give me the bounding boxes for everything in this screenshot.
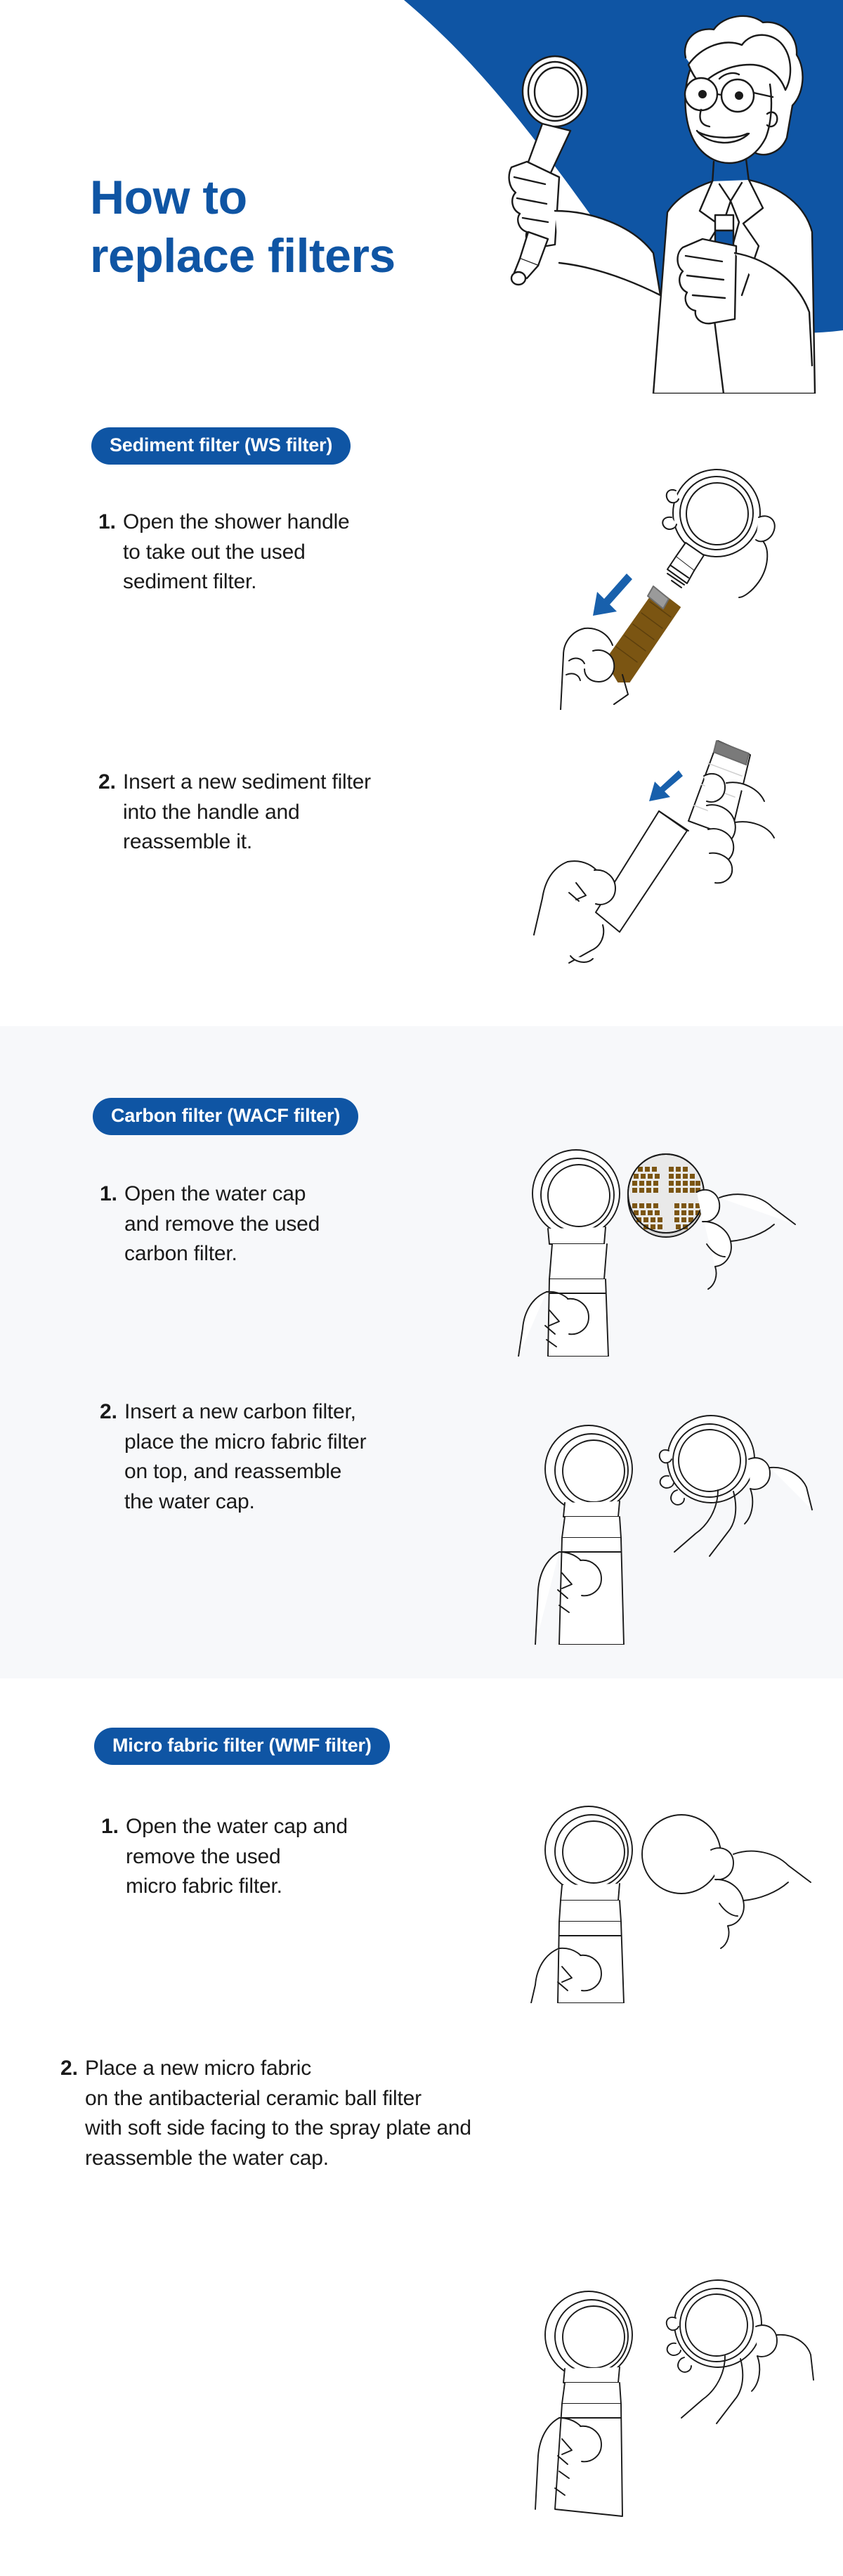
illustration-remove-sediment-filter <box>520 450 801 710</box>
illustration-reassemble-water-cap-micro-fabric <box>534 2277 815 2558</box>
step-number: 2. <box>100 1397 117 1428</box>
step-number: 2. <box>98 768 116 798</box>
badge-micro-fabric-filter: Micro fabric filter (WMF filter) <box>94 1728 390 1765</box>
step-text: Open the shower handle to take out the u… <box>123 507 350 597</box>
step-micro-fabric-2: 2. Place a new micro fabric on the antib… <box>60 2054 763 2173</box>
badge-sediment-filter: Sediment filter (WS filter) <box>91 427 351 465</box>
step-number: 1. <box>98 507 116 538</box>
step-sediment-1: 1. Open the shower handle to take out th… <box>98 507 450 597</box>
step-carbon-2: 2. Insert a new carbon filter, place the… <box>100 1397 465 1517</box>
step-text: Insert a new carbon filter, place the mi… <box>124 1397 366 1517</box>
step-sediment-2: 2. Insert a new sediment filter into the… <box>98 768 464 857</box>
step-text: Open the water cap and remove the used c… <box>124 1179 320 1269</box>
step-number: 2. <box>60 2054 78 2084</box>
step-number: 1. <box>100 1179 117 1210</box>
illustration-reassemble-water-cap-carbon <box>534 1392 815 1645</box>
badge-carbon-filter: Carbon filter (WACF filter) <box>93 1098 358 1135</box>
step-text: Open the water cap and remove the used m… <box>126 1812 348 1902</box>
step-number: 1. <box>101 1812 119 1842</box>
section-carbon-filter: Carbon filter (WACF filter) 1. Open the … <box>0 1026 843 1678</box>
illustration-insert-sediment-filter <box>527 724 808 977</box>
step-carbon-1: 1. Open the water cap and remove the use… <box>100 1179 437 1269</box>
step-micro-fabric-1: 1. Open the water cap and remove the use… <box>101 1812 438 1902</box>
illustration-remove-carbon-filter <box>506 1103 801 1357</box>
illustration-remove-micro-fabric-filter <box>520 1743 815 2003</box>
step-text: Insert a new sediment filter into the ha… <box>123 768 371 857</box>
step-text: Place a new micro fabric on the antibact… <box>85 2054 471 2173</box>
section-sediment-filter: Sediment filter (WS filter) 1. Open the … <box>0 0 843 1026</box>
section-micro-fabric-filter: Micro fabric filter (WMF filter) 1. Open… <box>0 1678 843 2576</box>
